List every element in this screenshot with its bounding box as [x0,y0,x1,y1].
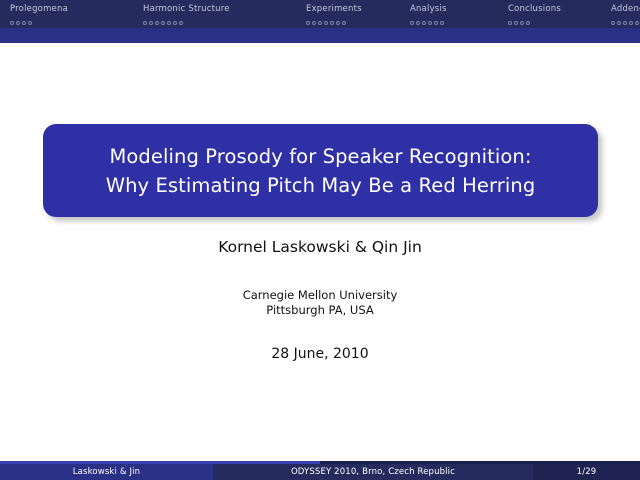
nav-slide-dot[interactable] [514,21,518,25]
nav-slide-dot[interactable] [629,21,633,25]
nav-slide-dot[interactable] [173,21,177,25]
nav-slide-dots[interactable] [611,17,640,25]
nav-slide-dot[interactable] [342,21,346,25]
presentation-title-line-2: Why Estimating Pitch May Be a Red Herrin… [106,171,536,200]
nav-slide-dots[interactable] [143,17,296,25]
nav-section-label: Conclusions [508,4,601,14]
navigation-accent-band [0,28,640,43]
nav-slide-dot[interactable] [434,21,438,25]
nav-section-prolegomena[interactable]: Prolegomena [0,0,133,25]
nav-slide-dot[interactable] [16,21,20,25]
nav-slide-dot[interactable] [10,21,14,25]
footer-page-number: 1/29 [533,464,640,480]
institute-block: Carnegie Mellon University Pittsburgh PA… [0,288,640,318]
nav-slide-dot[interactable] [22,21,26,25]
nav-slide-dot[interactable] [167,21,171,25]
footer-conference: ODYSSEY 2010, Brno, Czech Republic [213,464,533,480]
nav-slide-dot[interactable] [440,21,444,25]
nav-section-experiments[interactable]: Experiments [296,0,400,25]
nav-slide-dot[interactable] [520,21,524,25]
nav-slide-dot[interactable] [324,21,328,25]
nav-section-label: Harmonic Structure [143,4,296,14]
institute-line-2: Pittsburgh PA, USA [0,303,640,318]
footer-author: Laskowski & Jin [0,464,213,480]
presentation-date: 28 June, 2010 [0,346,640,362]
nav-slide-dots[interactable] [306,17,400,25]
nav-slide-dot[interactable] [179,21,183,25]
nav-slide-dot[interactable] [312,21,316,25]
nav-slide-dot[interactable] [336,21,340,25]
nav-section-label: Addenda [611,4,640,14]
nav-slide-dot[interactable] [623,21,627,25]
navigation-sections: Prolegomena Harmonic Structure Experimen… [0,0,640,28]
nav-slide-dot[interactable] [143,21,147,25]
presentation-title-line-1: Modeling Prosody for Speaker Recognition… [109,142,531,171]
nav-slide-dot[interactable] [306,21,310,25]
nav-slide-dot[interactable] [318,21,322,25]
nav-slide-dot[interactable] [508,21,512,25]
nav-slide-dots[interactable] [508,17,601,25]
nav-section-conclusions[interactable]: Conclusions [498,0,601,25]
title-block-panel: Modeling Prosody for Speaker Recognition… [43,124,598,217]
nav-slide-dot[interactable] [422,21,426,25]
nav-slide-dot[interactable] [330,21,334,25]
nav-slide-dot[interactable] [161,21,165,25]
footer-bar: Laskowski & Jin ODYSSEY 2010, Brno, Czec… [0,464,640,480]
nav-section-addenda[interactable]: Addenda [601,0,640,25]
nav-slide-dots[interactable] [410,17,498,25]
nav-slide-dot[interactable] [635,21,639,25]
nav-slide-dot[interactable] [611,21,615,25]
nav-slide-dot[interactable] [416,21,420,25]
nav-section-label: Analysis [410,4,498,14]
nav-slide-dot[interactable] [526,21,530,25]
nav-section-harmonic-structure[interactable]: Harmonic Structure [133,0,296,25]
title-block: Modeling Prosody for Speaker Recognition… [43,124,598,217]
slide-footline: Laskowski & Jin ODYSSEY 2010, Brno, Czec… [0,461,640,480]
institute-line-1: Carnegie Mellon University [0,288,640,303]
slide-headline: Prolegomena Harmonic Structure Experimen… [0,0,640,43]
nav-slide-dot[interactable] [428,21,432,25]
nav-slide-dot[interactable] [155,21,159,25]
nav-slide-dot[interactable] [410,21,414,25]
nav-section-analysis[interactable]: Analysis [400,0,498,25]
nav-slide-dot[interactable] [617,21,621,25]
nav-section-label: Experiments [306,4,400,14]
nav-slide-dot[interactable] [28,21,32,25]
author-line: Kornel Laskowski & Qin Jin [0,238,640,256]
nav-section-label: Prolegomena [10,4,133,14]
nav-slide-dots[interactable] [10,17,133,25]
nav-slide-dot[interactable] [149,21,153,25]
